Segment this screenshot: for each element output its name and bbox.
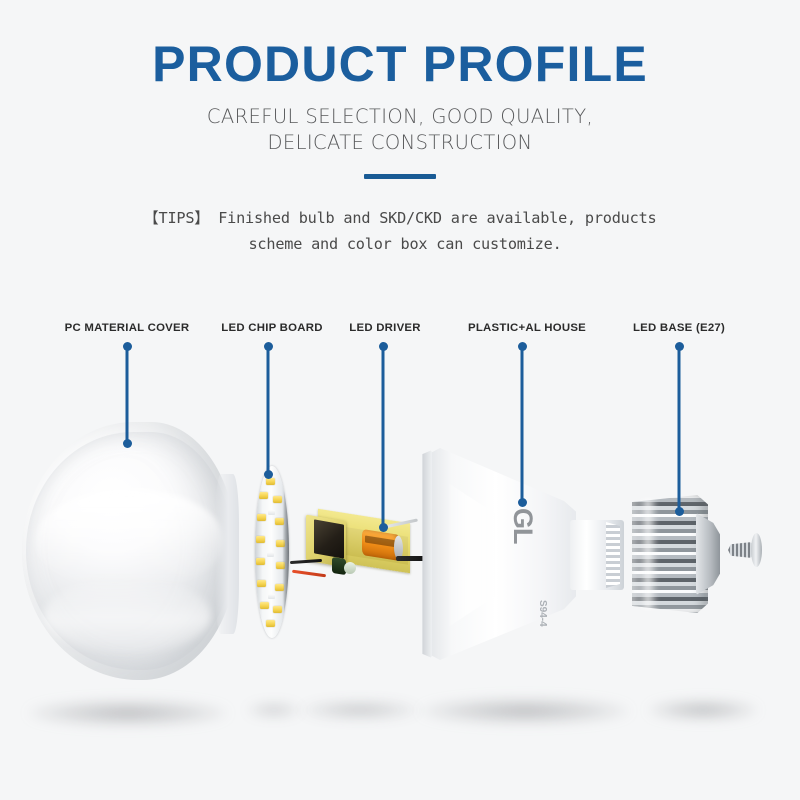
rivet-head: [751, 533, 762, 567]
led-chip: [266, 478, 275, 485]
leader-line-led-driver: [382, 346, 385, 528]
rivet-shaft: [728, 542, 752, 558]
board-edge: [283, 466, 289, 638]
cover-highlight-lower: [44, 577, 212, 654]
led-chip: [257, 514, 266, 521]
subtitle-line-2: DELICATE CONSTRUCTION: [0, 130, 800, 156]
shadow-driver: [300, 700, 420, 720]
leader-line-led-base-e27: [678, 346, 681, 512]
solder-pad: [268, 510, 275, 515]
solder-pad: [268, 594, 275, 599]
led-chip: [256, 558, 265, 565]
cover-flat-edge: [215, 474, 239, 634]
part-led-driver: [300, 500, 412, 586]
title-divider: [364, 174, 436, 179]
led-chip: [266, 620, 275, 627]
tips-line-1: Finished bulb and SKD/CKD are available,…: [218, 209, 656, 227]
tips-block: 【TIPS】 Finished bulb and SKD/CKD are ava…: [0, 205, 800, 257]
driver-wire-red: [292, 570, 326, 578]
callout-label-led-driver: LED DRIVER: [349, 322, 420, 334]
tips-badge: 【TIPS】: [144, 209, 210, 227]
house-model-marking: S94-4: [537, 600, 548, 627]
led-chip: [273, 496, 282, 503]
base-rivet: [728, 533, 762, 567]
callout-label-led-base-e27: LED BASE (E27): [633, 322, 725, 334]
led-chip: [260, 602, 269, 609]
header: PRODUCT PROFILE CAREFUL SELECTION, GOOD …: [0, 0, 800, 179]
page-title: PRODUCT PROFILE: [0, 0, 800, 90]
leader-line-pc-material-cover: [126, 346, 129, 444]
base-highlight: [638, 499, 658, 609]
driver-transformer-core: [314, 519, 344, 558]
driver-wire-black: [290, 559, 322, 564]
shadow-board: [246, 702, 302, 718]
led-chip: [256, 536, 265, 543]
led-chip: [257, 580, 266, 587]
led-chip: [259, 492, 268, 499]
leader-line-led-chip-board: [267, 346, 270, 475]
shadow-cover: [28, 700, 228, 726]
house-rim-lip: [420, 450, 432, 658]
house-brand-marking: GL: [507, 508, 538, 544]
base-contact-tip: [696, 513, 720, 595]
shadow-house: [420, 698, 630, 724]
callout-label-plastic-al-house: PLASTIC+AL HOUSE: [468, 322, 586, 334]
capacitor-label: [365, 535, 395, 547]
callout-label-led-chip-board: LED CHIP BOARD: [221, 322, 322, 334]
infographic-canvas: PRODUCT PROFILE CAREFUL SELECTION, GOOD …: [0, 0, 800, 800]
led-chip: [273, 606, 282, 613]
callout-label-pc-material-cover: PC MATERIAL COVER: [65, 322, 190, 334]
part-led-chip-board: [255, 466, 289, 638]
tips-line-2: scheme and color box can customize.: [0, 231, 800, 257]
shadow-base: [648, 700, 758, 720]
subtitle-line-1: CAREFUL SELECTION, GOOD QUALITY,: [207, 105, 593, 128]
house-thread-ridges: [606, 522, 620, 588]
driver-inductor: [344, 562, 356, 574]
part-led-base-e27: [632, 495, 742, 613]
solder-pad: [267, 552, 274, 557]
part-pc-material-cover: [22, 422, 237, 680]
subtitle: CAREFUL SELECTION, GOOD QUALITY, DELICAT…: [0, 90, 800, 156]
leader-line-plastic-al-house: [521, 346, 524, 503]
